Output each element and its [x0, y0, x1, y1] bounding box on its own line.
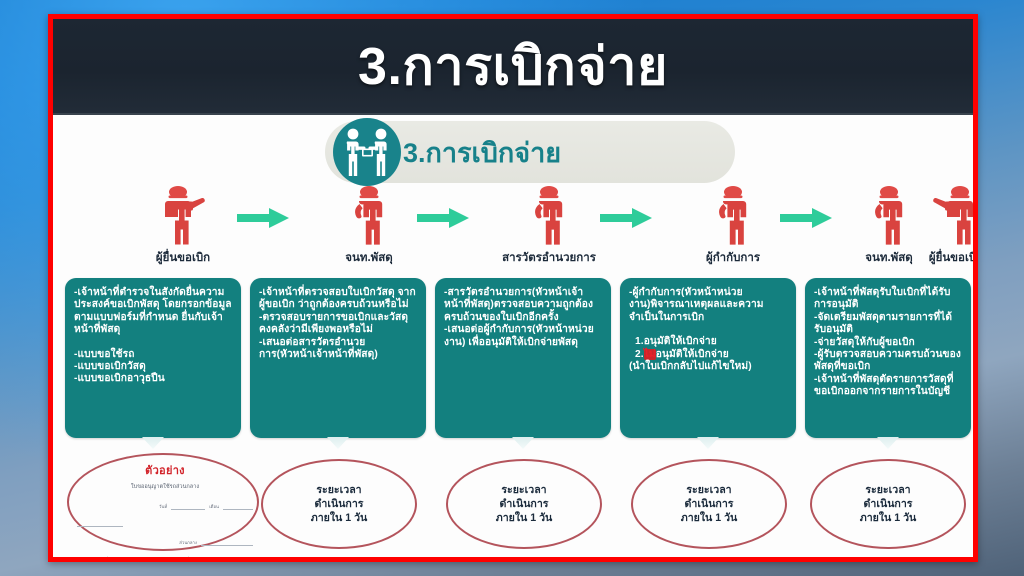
duration-ellipse-5: ระยะเวลา ดำเนินการ ภายใน 1 วัน [810, 459, 966, 549]
sample-field-label: ส่วนกลาง [179, 539, 197, 546]
actor-1: ผู้ยื่นขอเบิก [135, 183, 231, 267]
person-raised-hand-icon [908, 183, 978, 247]
badge-label: 3.การเบิกจ่าย [403, 131, 561, 174]
sample-form-ellipse: ตัวอย่าง ใบขออนุญาตใช้รถส่วนกลาง วันที่ … [67, 453, 259, 551]
duration-ellipse-3: ระยะเวลา ดำเนินการ ภายใน 1 วัน [446, 459, 602, 549]
person-raised-hand-icon [135, 183, 231, 247]
sample-form-document: ตัวอย่าง ใบขออนุญาตใช้รถส่วนกลาง วันที่ … [77, 461, 253, 547]
sample-field-label: เดือน [209, 503, 219, 510]
sample-field-label: วันที่ [159, 503, 167, 510]
actor-label: สารวัตรอำนวยการ [501, 249, 597, 267]
step-notch-icon [142, 437, 164, 449]
flow-arrow-1-icon [235, 205, 291, 231]
actor-label: ผู้ยื่นขอเบิก [908, 249, 978, 267]
step-text: -จัดเตรียมพัสดุตามรายการที่ได้รับอนุมัติ [814, 312, 963, 337]
decision-option-no: 2.ไม่อนุมัติให้เบิกจ่าย [629, 349, 788, 361]
slide-frame: 3.การเบิกจ่าย [48, 14, 978, 562]
step-box-4: -ผู้กำกับการ(หัวหน้าหน่วยงาน)พิจารณาเหตุ… [620, 278, 796, 438]
sample-field-label: ลายมือชื่อผู้ขออนุญาต 1 [92, 556, 136, 562]
step-text: -สารวัตรอำนวยการ(หัวหน้าเจ้าหน้าที่พัสดุ… [444, 287, 603, 324]
step-notch-icon [327, 437, 349, 449]
flow-arrow-2-icon [415, 205, 471, 231]
duration-ellipse-4: ระยะเวลา ดำเนินการ ภายใน 1 วัน [631, 459, 787, 549]
step-notch-icon [512, 437, 534, 449]
step-box-5: -เจ้าหน้าที่พัสดุรับใบเบิกที่ได้รับการอน… [805, 278, 971, 438]
decision-option-yes: 1.อนุมัติให้เบิกจ่าย [629, 336, 788, 348]
actor-label: จนท.พัสดุ [321, 249, 417, 267]
step-text: -เสนอต่อผู้กำกับการ(หัวหน้าหน่วยงาน) เพื… [444, 324, 603, 349]
officer-hand-on-hip-icon [321, 183, 417, 247]
page-title: 3.การเบิกจ่าย [358, 41, 668, 93]
step-text: -จ่ายวัสดุให้กับผู้ขอเบิก [814, 337, 963, 349]
step-subitem: -แบบขอเบิกวัสดุ [74, 361, 233, 373]
actor-6: ผู้ยื่นขอเบิก [908, 183, 978, 267]
step-subitem: -แบบขอใช้รถ [74, 349, 233, 361]
sample-field-label: เพื่อไปราชการ [185, 556, 212, 562]
duration-text: ระยะเวลา ดำเนินการ ภายใน 1 วัน [681, 483, 738, 525]
decision-negation: ไม่ [644, 349, 656, 360]
step-box-3: -สารวัตรอำนวยการ(หัวหน้าเจ้าหน้าที่พัสดุ… [435, 278, 611, 438]
step-box-1: -เจ้าหน้าที่ตำรวจในสังกัดยื่นความประสงค์… [65, 278, 241, 438]
decision-number: 2. [635, 349, 644, 360]
decision-note: (นำใบเบิกกลับไปแก้ไขใหม่) [629, 361, 788, 373]
step-text: -เจ้าหน้าที่พัสดุรับใบเบิกที่ได้รับการอน… [814, 287, 963, 312]
officer-hand-on-hip-icon [685, 183, 781, 247]
sample-form-subtitle: ใบขออนุญาตใช้รถส่วนกลาง [77, 483, 253, 491]
step-text: -ผู้รับตรวจสอบความครบถ้วนของพัสดุที่ขอเบ… [814, 349, 963, 374]
step-text: -เจ้าหน้าที่พัสดุตัดรายการวัสดุที่ขอเบิก… [814, 374, 963, 399]
step-text: -ผู้กำกับการ(หัวหน้าหน่วยงาน)พิจารณาเหตุ… [629, 287, 788, 324]
two-people-handing-box-icon [333, 118, 401, 186]
diagram-header-badge: 3.การเบิกจ่าย [325, 121, 735, 183]
sample-form-title: ตัวอย่าง [77, 461, 253, 479]
duration-ellipse-2: ระยะเวลา ดำเนินการ ภายใน 1 วัน [261, 459, 417, 549]
actor-label: ผู้ยื่นขอเบิก [135, 249, 231, 267]
step-text: -ตรวจสอบรายการขอเบิกและวัสดุคงคลังว่ามีเ… [259, 312, 418, 337]
slide-background: 3.การเบิกจ่าย [0, 0, 1024, 576]
step-text: -เจ้าหน้าที่ตรวจสอบใบเบิกวัสดุ จากผู้ขอเ… [259, 287, 418, 312]
actor-4: ผู้กำกับการ [685, 183, 781, 267]
duration-text: ระยะเวลา ดำเนินการ ภายใน 1 วัน [860, 483, 917, 525]
actor-row: ผู้ยื่นขอเบิก [53, 183, 973, 275]
decision-rest: อนุมัติให้เบิกจ่าย [656, 349, 729, 360]
actor-label: ผู้กำกับการ [685, 249, 781, 267]
flow-arrow-3-icon [598, 205, 654, 231]
step-notch-icon [697, 437, 719, 449]
actor-2: จนท.พัสดุ [321, 183, 417, 267]
step-text: -เสนอต่อสารวัตรอำนวยการ(หัวหน้าเจ้าหน้าท… [259, 337, 418, 362]
step-notch-icon [877, 437, 899, 449]
step-subitem: -แบบขอเบิกอาวุธปืน [74, 373, 233, 385]
duration-text: ระยะเวลา ดำเนินการ ภายใน 1 วัน [311, 483, 368, 525]
step-box-2: -เจ้าหน้าที่ตรวจสอบใบเบิกวัสดุ จากผู้ขอเ… [250, 278, 426, 438]
duration-text: ระยะเวลา ดำเนินการ ภายใน 1 วัน [496, 483, 553, 525]
title-bar: 3.การเบิกจ่าย [53, 19, 973, 115]
officer-hand-on-hip-icon [501, 183, 597, 247]
flow-arrow-4-icon [778, 205, 834, 231]
actor-3: สารวัตรอำนวยการ [501, 183, 597, 267]
diagram-canvas: 3.การเบิกจ่าย ผู้ยื่นขอเบิ [53, 115, 973, 557]
step-text: -เจ้าหน้าที่ตำรวจในสังกัดยื่นความประสงค์… [74, 287, 233, 337]
